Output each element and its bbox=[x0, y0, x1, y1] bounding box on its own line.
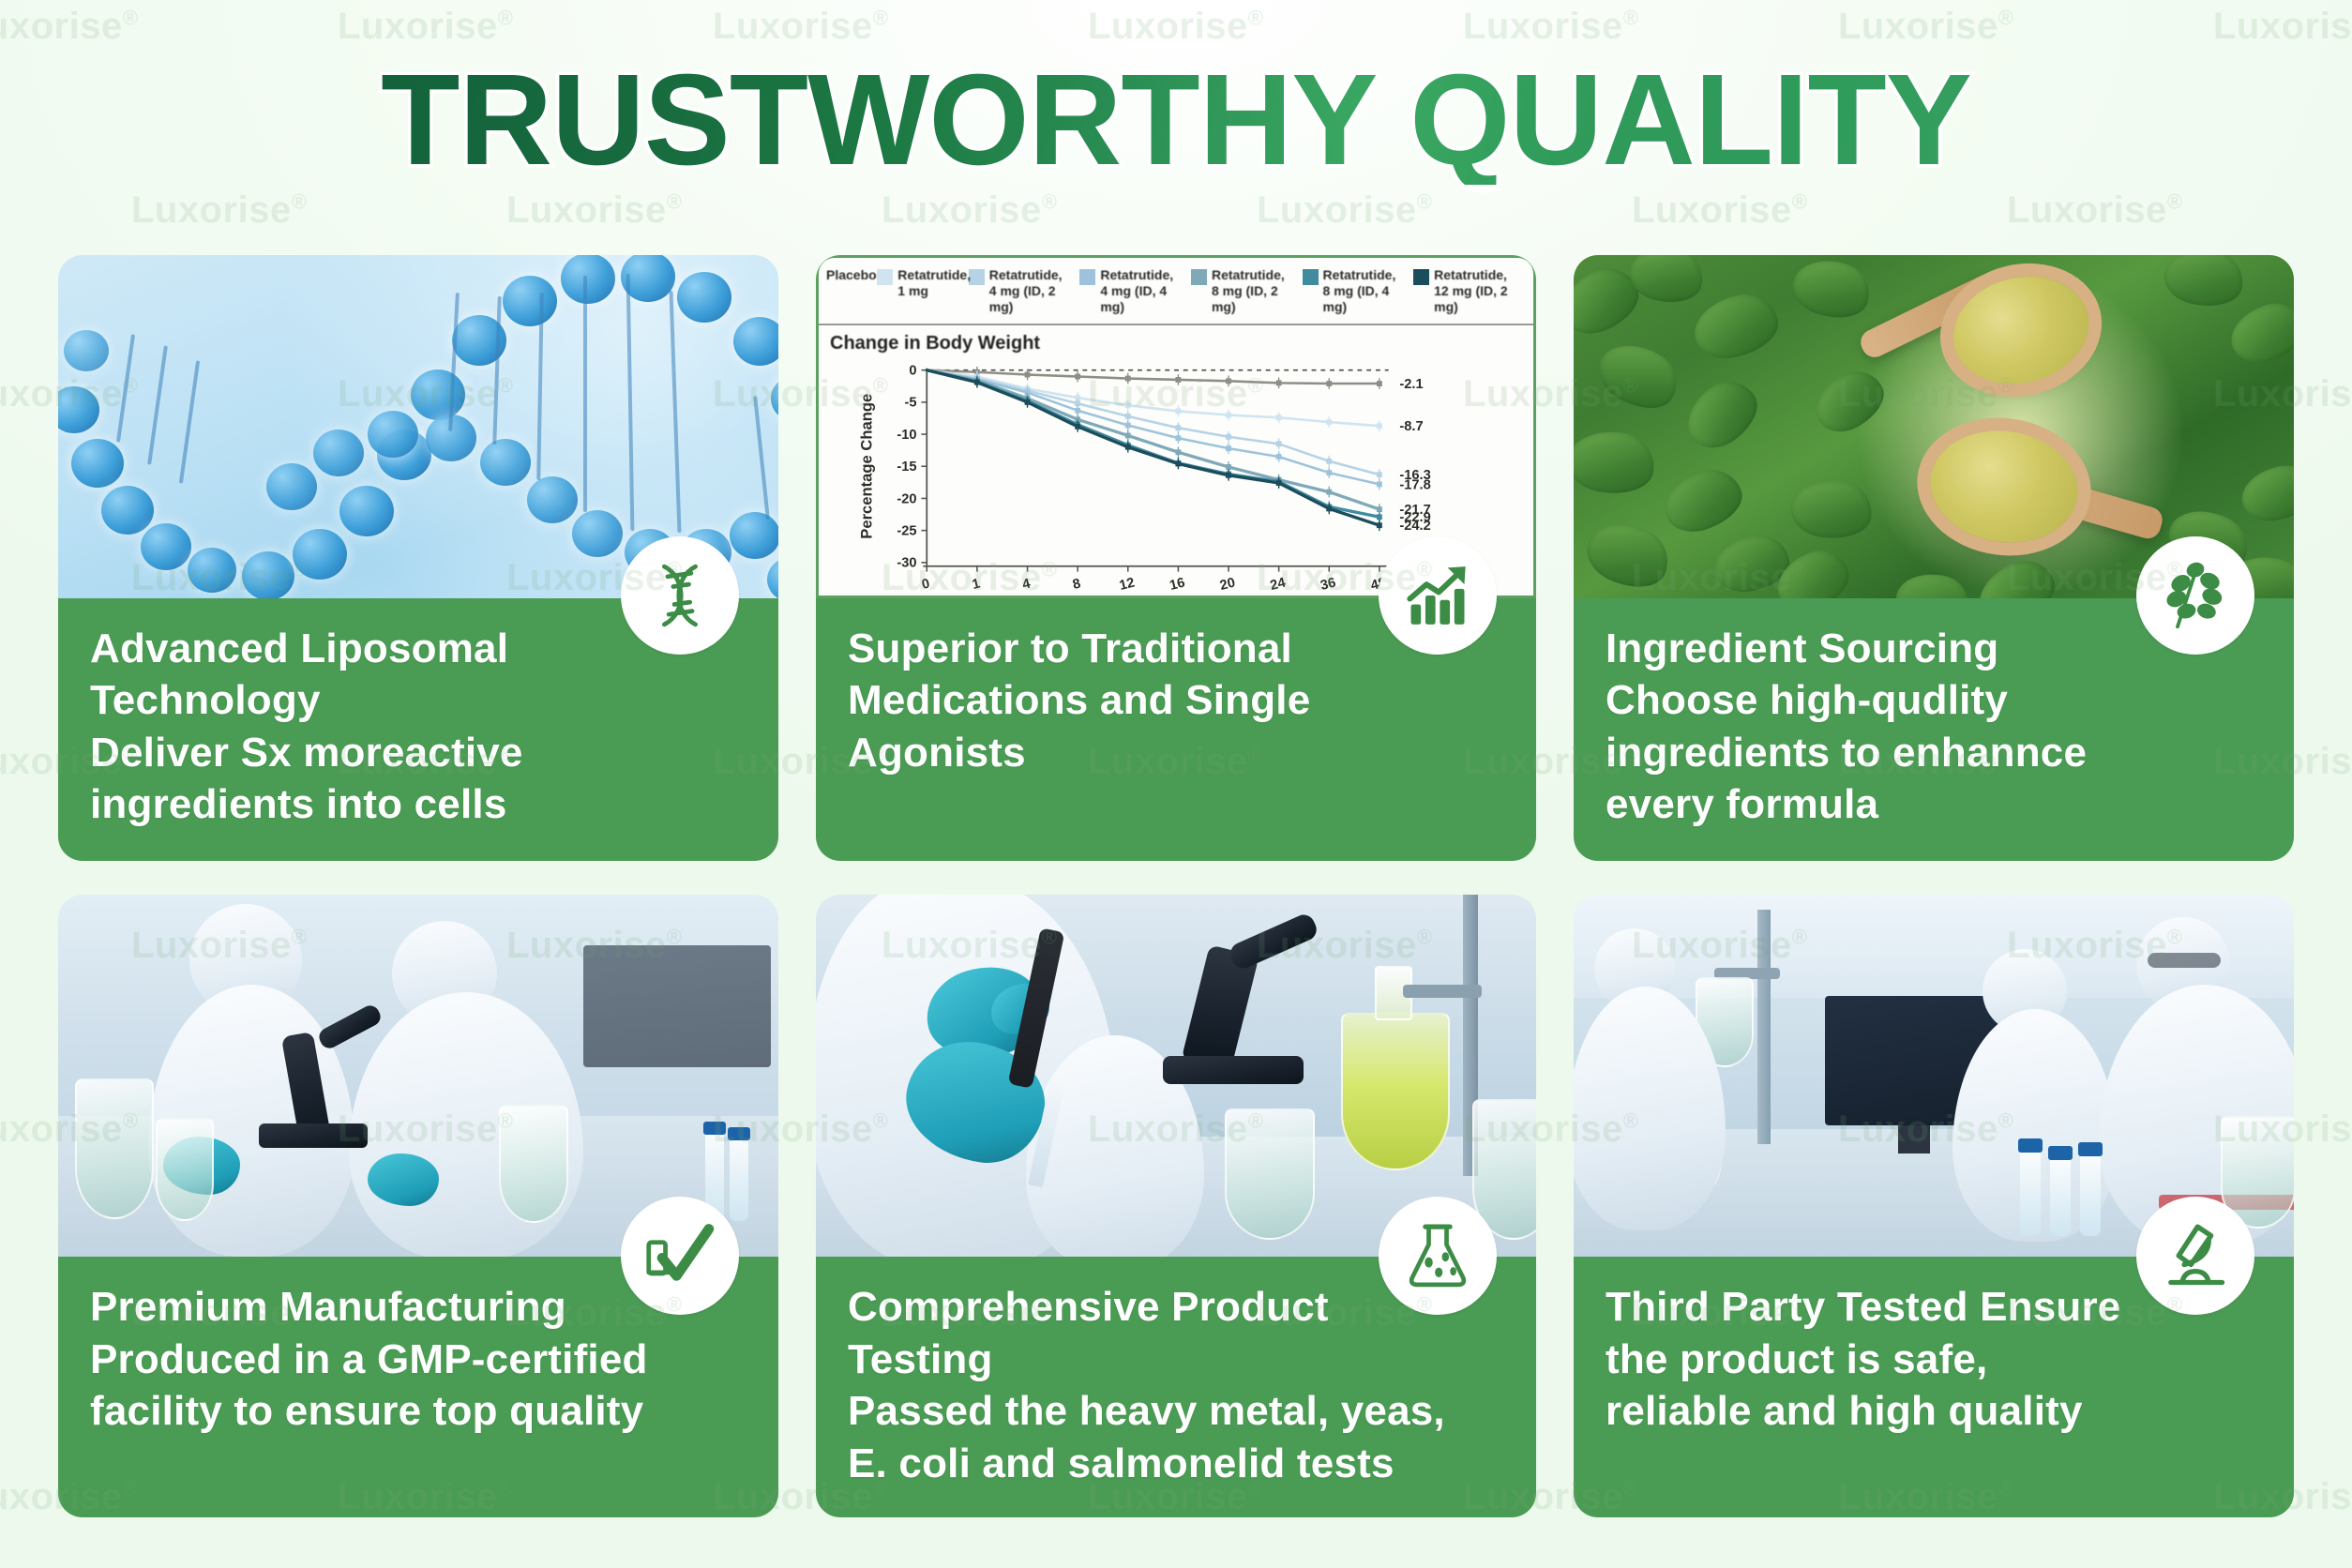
svg-text:24: 24 bbox=[1269, 575, 1289, 594]
svg-text:4: 4 bbox=[1021, 576, 1033, 593]
svg-text:-8.7: -8.7 bbox=[1399, 419, 1423, 434]
svg-text:-24.2: -24.2 bbox=[1399, 519, 1430, 534]
card-text-advanced-liposomal-technology: Advanced Liposomal Technology Deliver Sx… bbox=[90, 623, 523, 831]
svg-text:-25: -25 bbox=[897, 524, 916, 539]
card-text-premium-manufacturing: Premium Manufacturing Produced in a GMP-… bbox=[90, 1281, 648, 1437]
legend-label: Retatrutide, 8 mg (ID, 4 mg) bbox=[1323, 267, 1410, 315]
title-container: TRUSTWORTHY QUALITY bbox=[0, 45, 2352, 195]
card-text-third-party-tested: Third Party Tested Ensure the product is… bbox=[1606, 1281, 2120, 1437]
page-title: TRUSTWORTHY QUALITY bbox=[381, 55, 1971, 185]
svg-text:-30: -30 bbox=[897, 556, 916, 571]
legend-label: Retatrutide, 1 mg bbox=[897, 267, 971, 299]
legend-item: Retatrutide, 8 mg (ID, 4 mg) bbox=[1303, 267, 1410, 315]
legend-swatch bbox=[969, 269, 985, 285]
svg-text:0: 0 bbox=[909, 364, 916, 379]
legend-label: Retatrutide, 4 mg (ID, 4 mg) bbox=[1100, 267, 1187, 315]
svg-text:36: 36 bbox=[1319, 576, 1337, 594]
feature-card-advanced-liposomal-technology[interactable]: Advanced Liposomal Technology Deliver Sx… bbox=[58, 255, 778, 861]
legend-label: Retatrutide, 8 mg (ID, 2 mg) bbox=[1212, 267, 1299, 315]
flask-icon bbox=[1379, 1197, 1497, 1315]
legend-item: Retatrutide, 4 mg (ID, 4 mg) bbox=[1079, 267, 1187, 315]
svg-text:1: 1 bbox=[971, 577, 982, 593]
legend-label: Placebo bbox=[826, 267, 877, 283]
legend-swatch bbox=[1191, 269, 1207, 285]
feature-card-ingredient-sourcing[interactable]: Ingredient Sourcing Choose high-qudlity … bbox=[1574, 255, 2294, 861]
leaf-sprig-icon bbox=[2136, 536, 2254, 655]
svg-text:-2.1: -2.1 bbox=[1399, 377, 1423, 392]
svg-text:20: 20 bbox=[1218, 576, 1237, 594]
microscope-icon bbox=[2136, 1197, 2254, 1315]
legend-item: Retatrutide, 12 mg (ID, 2 mg) bbox=[1413, 267, 1528, 315]
legend-swatch bbox=[1413, 269, 1429, 285]
svg-text:-10: -10 bbox=[897, 428, 916, 443]
feature-card-third-party-tested[interactable]: Third Party Tested Ensure the product is… bbox=[1574, 895, 2294, 1517]
legend-swatch bbox=[877, 269, 893, 285]
feature-card-comprehensive-product-testing[interactable]: Comprehensive Product Testing Passed the… bbox=[816, 895, 1536, 1517]
feature-card-premium-manufacturing[interactable]: Premium Manufacturing Produced in a GMP-… bbox=[58, 895, 778, 1517]
legend-swatch bbox=[1079, 269, 1095, 285]
growth-chart-icon bbox=[1379, 536, 1497, 655]
legend-label: Retatrutide, 4 mg (ID, 2 mg) bbox=[989, 267, 1077, 315]
legend-item: Retatrutide, 1 mg bbox=[877, 267, 964, 299]
legend-swatch bbox=[1303, 269, 1319, 285]
card-text-superior-to-traditional-medications: Superior to Traditional Medications and … bbox=[848, 623, 1310, 778]
clipboard-check-icon bbox=[621, 1197, 739, 1315]
svg-text:12: 12 bbox=[1118, 576, 1137, 594]
legend-label: Retatrutide, 12 mg (ID, 2 mg) bbox=[1434, 267, 1528, 315]
svg-text:16: 16 bbox=[1168, 576, 1187, 594]
svg-text:-20: -20 bbox=[897, 491, 916, 506]
svg-text:-5: -5 bbox=[904, 396, 916, 411]
feature-card-superior-to-traditional-medications[interactable]: Placebo Retatrutide, 1 mg Retatrutide, 4… bbox=[816, 255, 1536, 861]
svg-text:8: 8 bbox=[1071, 577, 1082, 593]
svg-text:Percentage Change: Percentage Change bbox=[858, 394, 876, 539]
svg-text:0: 0 bbox=[920, 577, 931, 593]
chart-legend: Placebo Retatrutide, 1 mg Retatrutide, 4… bbox=[819, 258, 1533, 325]
dna-helix-icon bbox=[621, 536, 739, 655]
svg-text:-17.8: -17.8 bbox=[1399, 477, 1430, 492]
legend-item: Retatrutide, 4 mg (ID, 2 mg) bbox=[969, 267, 1077, 315]
svg-text:-15: -15 bbox=[897, 460, 916, 475]
feature-card-grid: Advanced Liposomal Technology Deliver Sx… bbox=[58, 255, 2294, 1517]
legend-item: Retatrutide, 8 mg (ID, 2 mg) bbox=[1191, 267, 1299, 315]
card-text-comprehensive-product-testing: Comprehensive Product Testing Passed the… bbox=[848, 1281, 1445, 1489]
card-text-ingredient-sourcing: Ingredient Sourcing Choose high-qudlity … bbox=[1606, 623, 2087, 831]
legend-item: Placebo bbox=[826, 267, 873, 283]
chart-title: Change in Body Weight bbox=[830, 333, 1040, 354]
